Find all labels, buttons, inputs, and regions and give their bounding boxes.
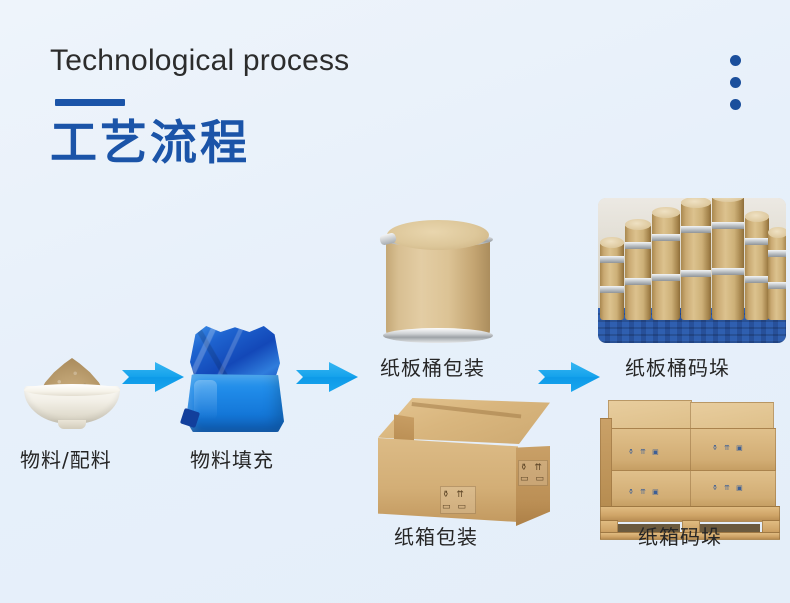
infographic-canvas: Technological process 工艺流程 物料/配料 [0,0,790,603]
decorative-dots [730,55,741,121]
drum-photo-item [712,198,744,320]
carton-box-icon: ⚱ ⇈ ▭ ▭ ⚱ ⇈ ▭ ▭ [378,398,550,528]
step-label-drum-pack: 纸板桶包装 [380,352,485,381]
bowl-of-powder-icon [24,358,120,432]
arrow-right-icon [122,362,184,392]
step-label-drum-palletize: 纸板桶码垛 [625,352,730,381]
carton-pallet-icon: ⚱ ⇈ ▣ ⚱ ⇈ ▣ ⚱ ⇈ ▣ ⚱ ⇈ ▣ [600,398,790,538]
carton-handling-glyph: ⚱ ⇈ ▣ [628,448,661,456]
bag-filled-body [186,374,284,432]
dot-icon-1 [730,55,741,66]
step-label-material: 物料/配料 [20,444,112,473]
drum-photo-item [745,216,769,320]
drum-photo-item [681,202,711,320]
drum-stack-photo [598,198,786,343]
box-handling-glyph: ▭ ▭ [442,502,468,512]
arrow-right-icon [538,362,600,392]
title-accent-bar [55,99,125,106]
box-handling-glyph: ▭ ▭ [520,474,546,484]
step-material-image [24,358,120,432]
page-title-english: Technological process [50,44,349,78]
drum-bottom-ring [383,328,493,343]
blue-bag-icon [186,326,284,434]
box-handling-glyph: ⚱ ⇈ [520,463,544,473]
dot-icon-3 [730,99,741,110]
arrow-1 [122,362,184,397]
arrow-right-icon [296,362,358,392]
carton-handling-glyph: ⚱ ⇈ ▣ [628,488,661,496]
carton-handling-glyph: ⚱ ⇈ ▣ [712,484,745,492]
box-side-face [516,446,550,526]
fiber-drum-icon [382,220,494,348]
drum-photo-item [652,212,680,320]
drum-photo-item [768,232,786,320]
box-handling-glyph: ⚱ ⇈ [442,490,466,500]
bowl-foot [58,420,86,429]
box-tape-seam [412,402,522,418]
drum-body [386,236,490,340]
drum-photo-item [625,224,651,320]
dot-icon-2 [730,77,741,88]
bowl-rim [24,384,120,396]
step-label-filling: 物料填充 [190,444,274,473]
arrow-3 [538,362,600,397]
drum-lid [387,220,489,250]
pallet-carton-side [600,418,612,510]
carton-handling-glyph: ⚱ ⇈ ▣ [712,444,745,452]
page-title-chinese: 工艺流程 [50,118,250,170]
arrow-2 [296,362,358,397]
step-label-carton-palletize: 纸箱码垛 [638,521,722,550]
drum-photo-item [600,242,624,320]
step-label-carton-pack: 纸箱包装 [394,521,478,550]
